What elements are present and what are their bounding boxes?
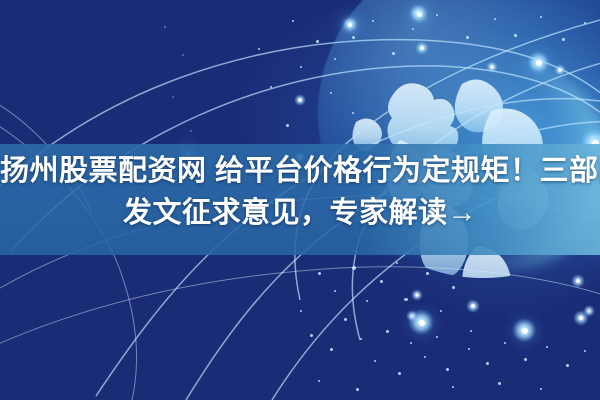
headline-line-1: 扬州股票配资网 给平台价格行为定规矩！三部门	[0, 150, 600, 192]
headline-line-2: 发文征求意见，专家解读→	[0, 192, 600, 234]
page-title: 扬州股票配资网 给平台价格行为定规矩！三部门 发文征求意见，专家解读→	[0, 150, 600, 234]
news-banner-image: 扬州股票配资网 给平台价格行为定规矩！三部门 发文征求意见，专家解读→	[0, 0, 600, 400]
